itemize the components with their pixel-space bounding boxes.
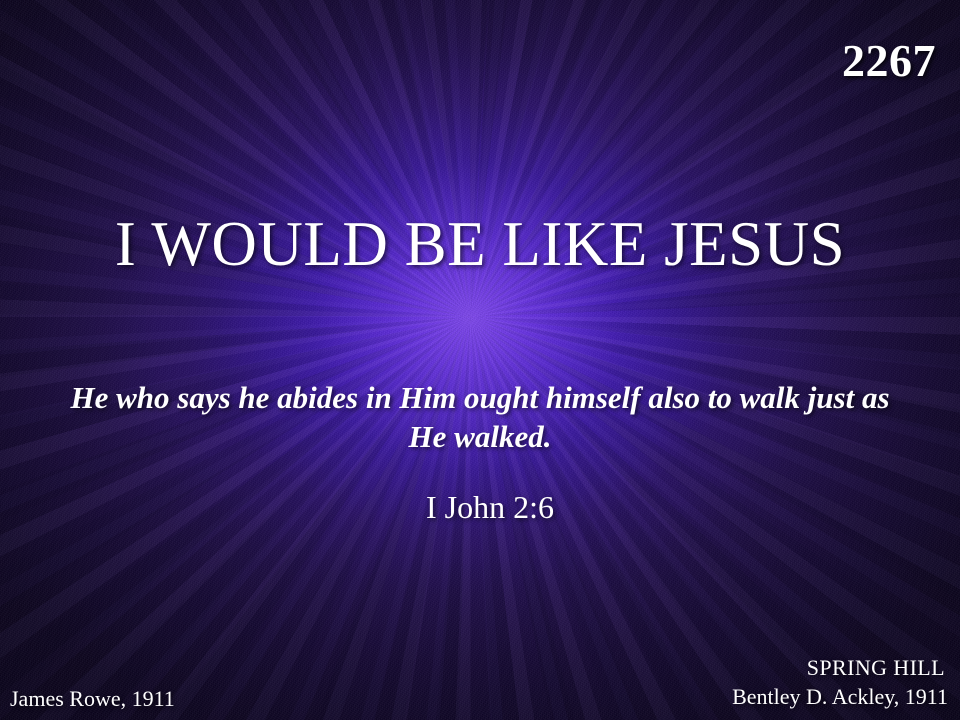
background-light-rays (0, 0, 960, 720)
hymn-slide: 2267 I WOULD BE LIKE JESUS He who says h… (0, 0, 960, 720)
background-shadow-rays (0, 0, 960, 720)
background-center-glow (0, 0, 960, 720)
author-credit: James Rowe, 1911 (10, 686, 175, 712)
scripture-text: He who says he abides in Him ought himse… (60, 378, 900, 456)
background-grain-texture (0, 0, 960, 720)
hymn-title: I WOULD BE LIKE JESUS (0, 208, 960, 281)
background-vignette (0, 0, 960, 720)
background-gradient (0, 0, 960, 720)
hymn-number: 2267 (842, 34, 936, 87)
scripture-reference: I John 2:6 (0, 489, 960, 526)
tune-name: SPRING HILL (807, 655, 945, 681)
composer-credit: Bentley D. Ackley, 1911 (732, 684, 948, 710)
